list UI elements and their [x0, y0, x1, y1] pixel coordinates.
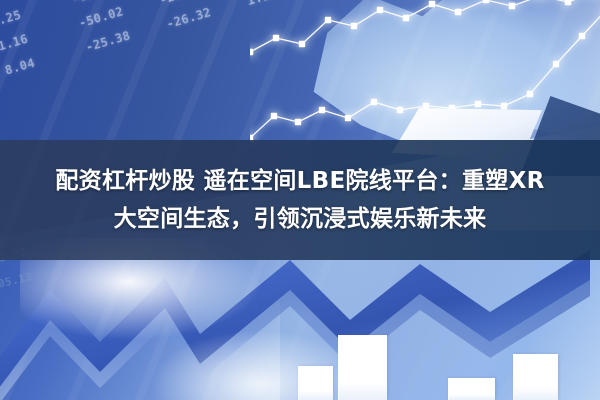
chart-node-marker: [319, 107, 325, 113]
chart-node-marker: [273, 35, 279, 41]
chart-node-marker: [483, 0, 489, 3]
chart-node-marker: [250, 49, 253, 55]
chart-node-marker: [501, 103, 507, 109]
chart-node-marker: [271, 113, 277, 119]
ticker-value: 8.04: [3, 51, 51, 77]
chart-node-marker: [345, 115, 351, 121]
bar-chart-column: [448, 378, 495, 400]
chart-node-marker: [429, 1, 435, 7]
ticker-value: -25.38: [84, 28, 132, 54]
chart-node-marker: [299, 41, 305, 47]
chart-node-marker: [527, 91, 533, 97]
chart-node-marker: [579, 33, 585, 39]
ticker-value: 05.12: [0, 268, 44, 291]
chart-node-marker: [509, 3, 515, 9]
chart-node-marker: [455, 9, 461, 15]
bar-chart-column: [338, 335, 387, 400]
chart-node-marker: [325, 17, 331, 23]
chart-node-marker: [565, 0, 571, 5]
bar-chart-column: [298, 366, 333, 400]
chart-node-marker: [351, 23, 357, 29]
chart-node-marker: [295, 119, 301, 125]
chart-node-marker: [397, 107, 403, 113]
chart-node-marker: [403, 15, 409, 21]
chart-node-marker: [553, 61, 559, 67]
chart-node-marker: [475, 101, 481, 107]
chart-node-marker: [377, 7, 383, 13]
article-banner-image: -4.052.26-09.02-09.3521.06-1.25-09.38-11…: [0, 0, 600, 400]
chart-node-marker: [371, 99, 377, 105]
bar-chart-column: [513, 354, 558, 400]
headline-line-1: 配资杠杆炒股 遥在空间LBE院线平台：重塑XR: [55, 162, 544, 200]
headline-line-2: 大空间生态，引领沉浸式娱乐新未来: [114, 200, 487, 238]
headline-overlay-band: 配资杠杆炒股 遥在空间LBE院线平台：重塑XR 大空间生态，引领沉浸式娱乐新未来: [0, 140, 600, 260]
ticker-value: -26.32: [165, 5, 213, 31]
bar-chart: [298, 290, 600, 400]
